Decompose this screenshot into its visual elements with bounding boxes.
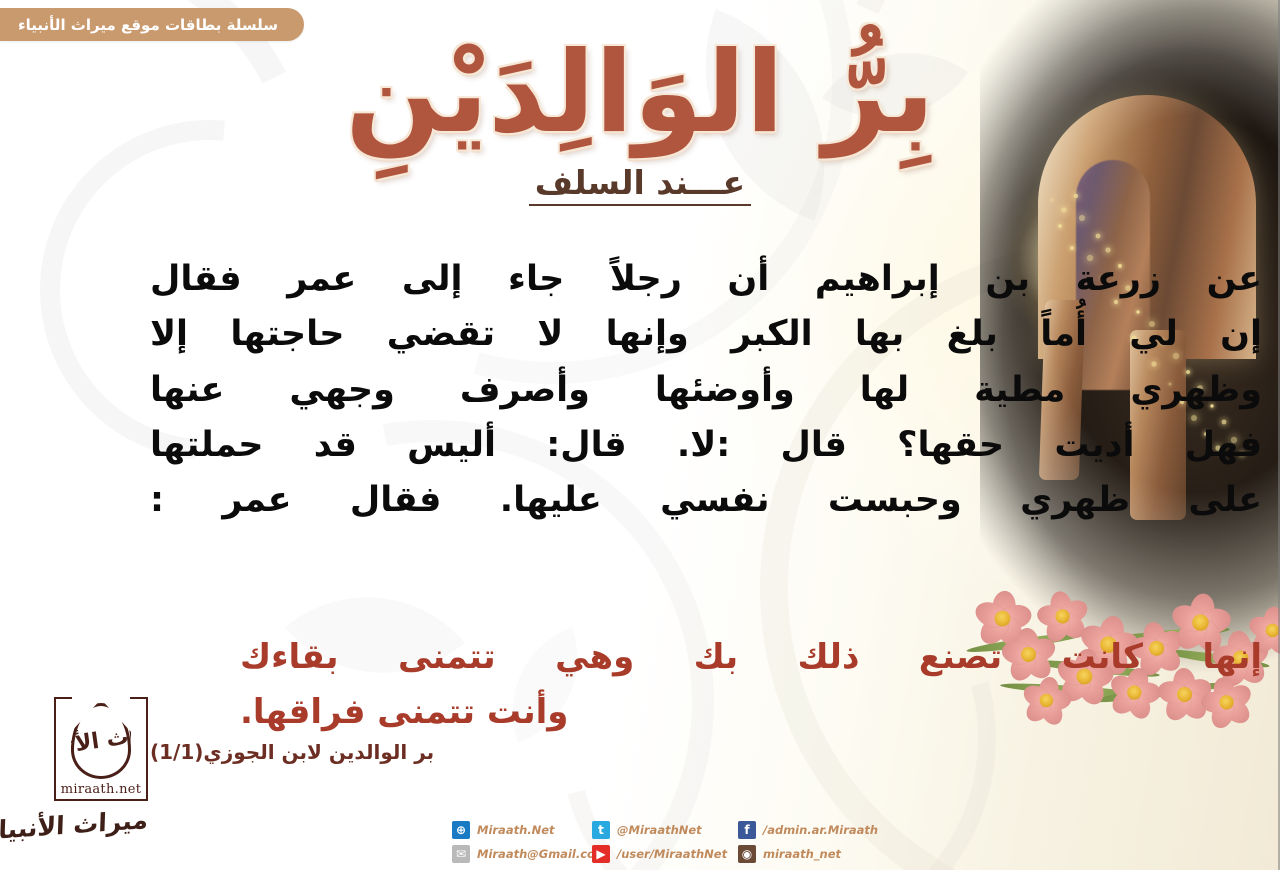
narration-line: على ظهري وحبست نفسي عليها. فقال عمر :: [150, 473, 1262, 528]
youtube-icon[interactable]: ▶: [592, 845, 610, 863]
social-link[interactable]: ⊕Miraath.Net: [452, 818, 584, 842]
social-link-label: /admin.ar.Miraath: [763, 823, 878, 837]
page-subtitle: عـــند السلف: [529, 163, 751, 206]
instagram-icon[interactable]: ◉: [738, 845, 756, 863]
social-links: ⊕Miraath.Nett@MiraathNetf/admin.ar.Miraa…: [452, 818, 878, 866]
twitter-icon[interactable]: t: [592, 821, 610, 839]
title-block: بِرُّ الوَالِدَيْنِ عـــند السلف: [0, 18, 1280, 206]
narration-line: فهل أديت حقها؟ قال :لا. قال: أليس قد حمل…: [150, 418, 1262, 473]
sparkle-dot: [1058, 224, 1061, 227]
email-icon[interactable]: ✉: [452, 845, 470, 863]
social-link-label: Miraath.Net: [477, 823, 555, 837]
social-link-label: /user/MiraathNet: [617, 847, 727, 861]
narration-text: عن زرعة بن إبراهيم أن رجلاً جاء إلى عمر …: [150, 252, 1262, 528]
narration-line: إن لي أُماً بلغ بها الكبر وإنها لا تقضي …: [150, 307, 1262, 362]
page-title: بِرُّ الوَالِدَيْنِ: [0, 18, 1280, 169]
site-logo: ميراث الأنبياء miraath.net ميراث الأنبيا…: [52, 697, 148, 834]
highlight-quote-line: إنها كانت تصنع ذلك بك وهي تتمنى بقاءك: [240, 630, 1262, 685]
social-link[interactable]: ◉miraath_net: [738, 842, 878, 866]
highlight-quote: إنها كانت تصنع ذلك بك وهي تتمنى بقاءكوأن…: [240, 630, 1262, 740]
globe-icon[interactable]: ⊕: [452, 821, 470, 839]
narration-line: وظهري مطية لها وأوضئها وأصرف وجهي عنها: [150, 363, 1262, 418]
card-root: سلسلة بطاقات موقع ميراث الأنبياء بِرُّ ا…: [0, 0, 1280, 870]
source-reference: بر الوالدين لابن الجوزي(1/1): [150, 740, 434, 764]
social-link[interactable]: ▶/user/MiraathNet: [592, 842, 730, 866]
social-link[interactable]: t@MiraathNet: [592, 818, 730, 842]
social-link-label: miraath_net: [763, 847, 841, 861]
social-link-label: @MiraathNet: [617, 823, 702, 837]
social-link[interactable]: f/admin.ar.Miraath: [738, 818, 878, 842]
sparkle-dot: [1061, 207, 1067, 213]
logo-frame: ميراث الأنبياء miraath.net: [54, 697, 148, 801]
logo-teardrop-icon: ميراث الأنبياء: [71, 703, 131, 779]
logo-url: miraath.net: [58, 782, 145, 797]
facebook-icon[interactable]: f: [738, 821, 756, 839]
highlight-quote-line: وأنت تتمنى فراقها.: [240, 685, 1262, 740]
sparkle-dot: [1070, 246, 1074, 250]
narration-line: عن زرعة بن إبراهيم أن رجلاً جاء إلى عمر …: [150, 252, 1262, 307]
social-link-label: Miraath@Gmail.com: [477, 847, 607, 861]
sparkle-dot: [1096, 234, 1101, 239]
social-link[interactable]: ✉Miraath@Gmail.com: [452, 842, 584, 866]
sparkle-dot: [1079, 215, 1085, 221]
